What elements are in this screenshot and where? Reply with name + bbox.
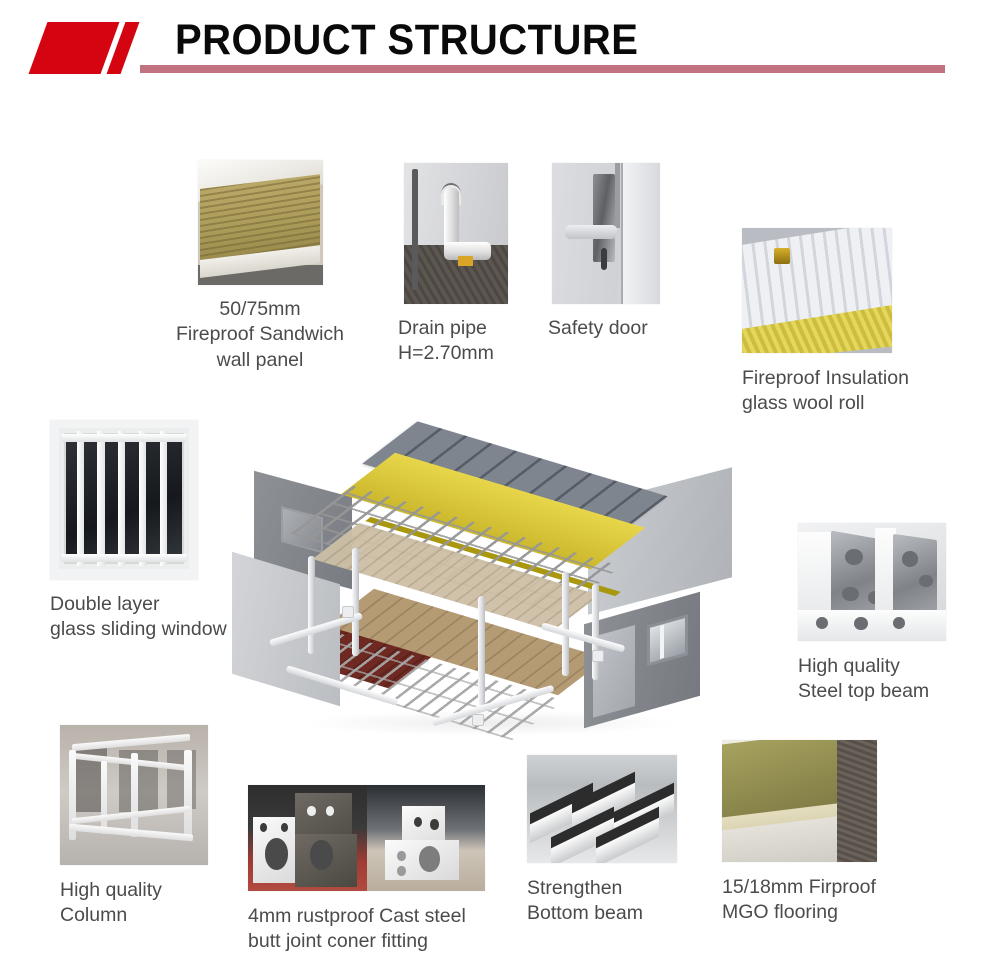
steel-top-beam-caption: High quality Steel top beam	[798, 654, 983, 705]
diagram-corner-post	[592, 584, 599, 680]
drain-pipe-caption: Drain pipe H=2.70mm	[398, 316, 548, 367]
column-image	[60, 725, 208, 865]
bottom-beam-image	[527, 755, 677, 863]
bottom-beam-caption: Strengthen Bottom beam	[527, 876, 717, 927]
page-header: PRODUCT STRUCTURE	[0, 0, 983, 92]
diagram-front-window	[647, 614, 689, 667]
diagram-center-post	[478, 596, 485, 706]
diagram-corner-node	[472, 714, 484, 726]
callout-glass-wool-roll: Fireproof Insulation glass wool roll	[742, 228, 972, 417]
diagram-corner-post	[352, 548, 359, 656]
title-underline-rule	[140, 65, 945, 73]
diagram-corner-post	[562, 572, 569, 676]
callout-safety-door: Safety door	[548, 163, 688, 341]
diagram-corner-post	[308, 556, 315, 654]
column-caption: High quality Column	[60, 878, 250, 929]
product-structure-page: PRODUCT STRUCTURE 50/75mm Fireproof Sand…	[0, 0, 983, 979]
callout-mgo-flooring: 15/18mm Firproof MGO flooring	[722, 740, 942, 926]
callout-drain-pipe: Drain pipe H=2.70mm	[398, 163, 548, 367]
glass-wool-roll-caption: Fireproof Insulation glass wool roll	[742, 366, 972, 417]
exploded-container-diagram	[240, 420, 760, 760]
page-title: PRODUCT STRUCTURE	[175, 16, 638, 65]
callout-corner-fitting: 4mm rustproof Cast steel butt joint cone…	[248, 785, 508, 955]
logo-parallelogram-large-icon	[29, 22, 120, 74]
diagram-corner-node	[342, 606, 354, 618]
safety-door-caption: Safety door	[548, 316, 688, 341]
sandwich-panel-image	[198, 160, 323, 285]
drain-pipe-image	[404, 163, 508, 304]
corner-fitting-image	[248, 785, 485, 891]
callout-bottom-beam: Strengthen Bottom beam	[527, 755, 717, 927]
callout-sandwich-panel: 50/75mm Fireproof Sandwich wall panel	[160, 160, 360, 373]
diagram-corner-node	[592, 650, 604, 662]
sandwich-panel-caption: 50/75mm Fireproof Sandwich wall panel	[160, 297, 360, 373]
mgo-flooring-caption: 15/18mm Firproof MGO flooring	[722, 875, 942, 926]
callout-steel-top-beam: High quality Steel top beam	[798, 523, 983, 705]
steel-top-beam-image	[798, 523, 946, 641]
glass-wool-roll-image	[742, 228, 892, 353]
callout-column: High quality Column	[60, 725, 250, 929]
brand-logo	[38, 22, 146, 74]
sliding-window-image	[50, 420, 198, 580]
corner-fitting-caption: 4mm rustproof Cast steel butt joint cone…	[248, 904, 508, 955]
safety-door-image	[552, 163, 660, 304]
